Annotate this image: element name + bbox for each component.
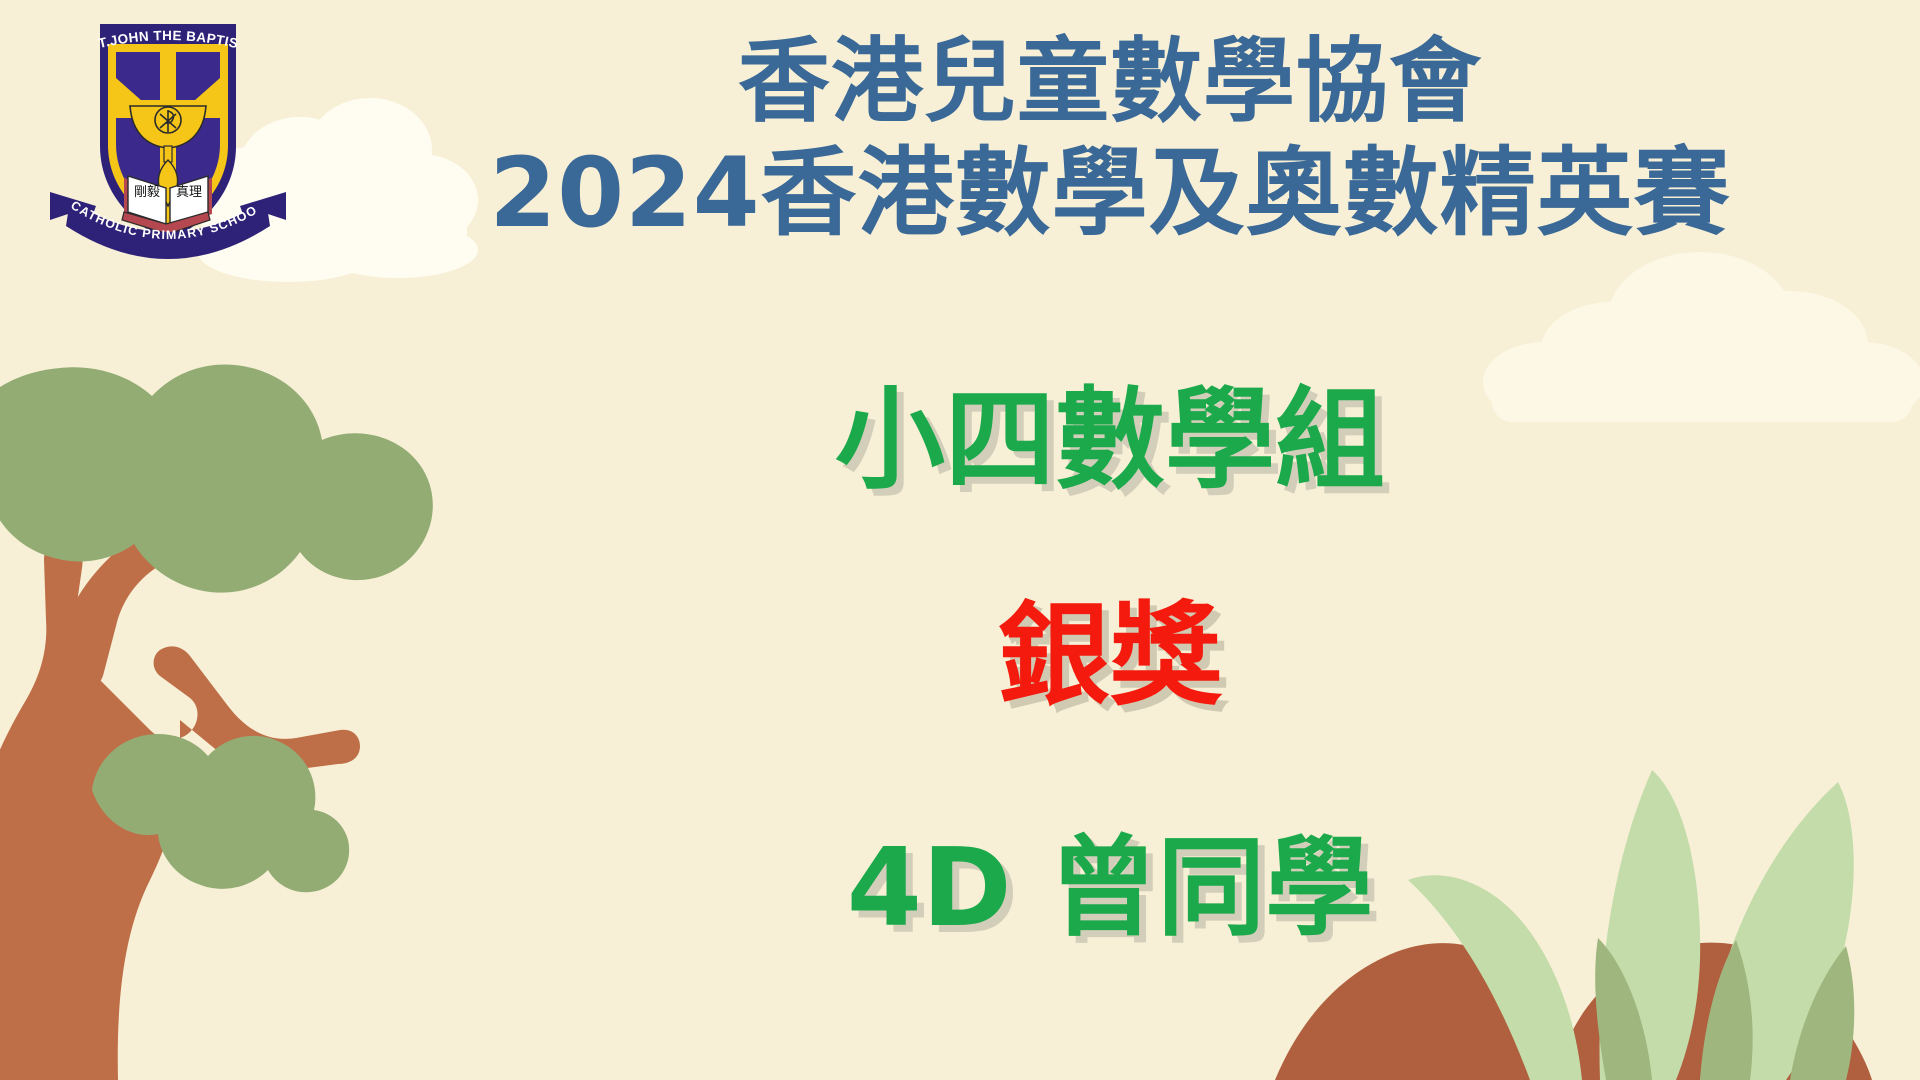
crest-book-left-characters: 剛毅 bbox=[134, 184, 160, 200]
title-line-competition: 2024香港數學及奧數精英賽 bbox=[330, 137, 1890, 250]
category-label: 小四數學組 bbox=[330, 380, 1890, 501]
crest-book-right-characters: 真理 bbox=[176, 185, 202, 200]
award-label: 銀獎 bbox=[330, 595, 1890, 718]
award-slide: 剛毅 真理 ST.JOHN THE BAPTIST CATHOLIC PRIMA… bbox=[0, 0, 1920, 1080]
student-label: 4D 曾同學 bbox=[330, 830, 1890, 949]
competition-title: 香港兒童數學協會 2024香港數學及奧數精英賽 bbox=[330, 28, 1890, 250]
title-line-organisation: 香港兒童數學協會 bbox=[330, 28, 1890, 137]
school-crest-logo: 剛毅 真理 ST.JOHN THE BAPTIST CATHOLIC PRIMA… bbox=[48, 14, 288, 264]
ground-mound-decoration bbox=[1275, 943, 1872, 1080]
